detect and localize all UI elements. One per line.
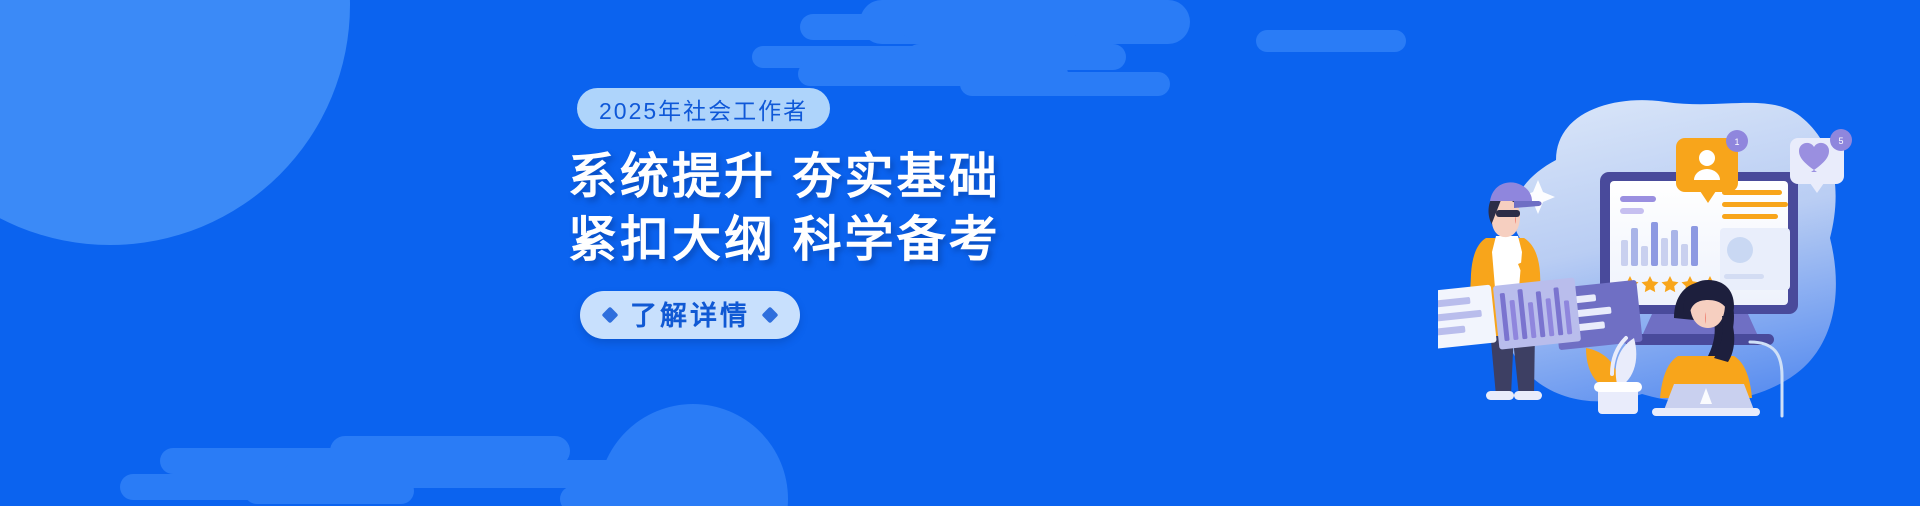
promo-banner: 2025年社会工作者 系统提升 夯实基础 紧扣大纲 科学备考 了解详情 [0, 0, 1920, 506]
learn-more-label: 了解详情 [630, 303, 750, 330]
svg-text:5: 5 [1838, 136, 1843, 146]
like-badge: 5 [1790, 129, 1852, 193]
document-sheets [1438, 277, 1643, 350]
headline: 系统提升 夯实基础 紧扣大纲 科学备考 [568, 146, 1208, 272]
diamond-icon-left [602, 307, 619, 324]
cloud-bar-top-8 [1256, 30, 1406, 52]
diamond-icon-right [762, 307, 779, 324]
headline-line-1: 系统提升 夯实基础 [568, 146, 1208, 209]
svg-text:1: 1 [1734, 137, 1739, 147]
people-with-dashboard-illustration: 1 5 [1438, 88, 1858, 418]
banner-content: 2025年社会工作者 系统提升 夯实基础 紧扣大纲 科学备考 了解详情 [0, 0, 1200, 506]
learn-more-button[interactable]: 了解详情 [580, 291, 800, 339]
campaign-tag: 2025年社会工作者 [577, 88, 830, 129]
headline-line-2: 紧扣大纲 科学备考 [568, 209, 1208, 272]
